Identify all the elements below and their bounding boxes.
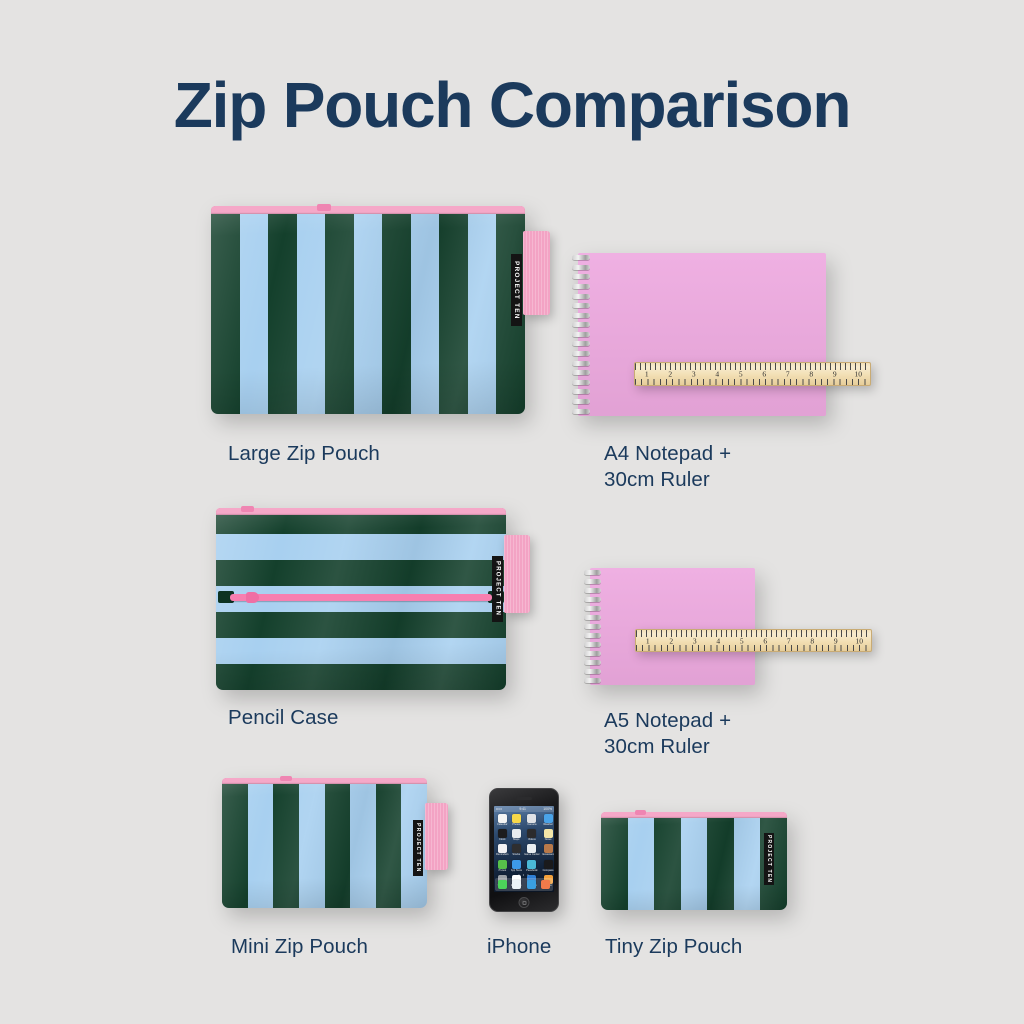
status-signal: ••••• bbox=[496, 807, 502, 811]
ruler-numbers: 12345678910 bbox=[636, 636, 871, 645]
stripe bbox=[601, 812, 628, 910]
ruler-30cm-a4[interactable]: 12345678910 bbox=[634, 362, 871, 386]
a5-notepad[interactable] bbox=[590, 568, 755, 685]
stripe bbox=[376, 778, 402, 908]
status-bar: ••••• 9:41 100% bbox=[494, 806, 554, 812]
spiral-ring bbox=[584, 606, 601, 611]
spiral-ring bbox=[572, 265, 590, 270]
stripe bbox=[325, 206, 354, 414]
stripe bbox=[350, 778, 376, 908]
spiral-ring bbox=[584, 588, 601, 593]
label-tiny-zip-pouch: Tiny Zip Pouch bbox=[605, 934, 742, 960]
spiral-ring bbox=[572, 255, 590, 260]
app-icon[interactable] bbox=[544, 814, 553, 823]
app-label: Game Center bbox=[524, 853, 540, 856]
page-title: Zip Pouch Comparison bbox=[0, 68, 1024, 142]
zipper-middle-pull[interactable] bbox=[246, 592, 259, 603]
stripe bbox=[439, 206, 468, 414]
app-icon[interactable] bbox=[544, 829, 553, 838]
app-dock[interactable] bbox=[495, 878, 553, 891]
stripe bbox=[268, 206, 297, 414]
stripe bbox=[216, 534, 506, 560]
stripe bbox=[628, 812, 655, 910]
stripe bbox=[273, 778, 299, 908]
app-icon[interactable] bbox=[498, 829, 507, 838]
stripe bbox=[707, 812, 734, 910]
ruler-number: 10 bbox=[847, 369, 871, 378]
ruler-number: 3 bbox=[682, 369, 706, 378]
ruler-number: 7 bbox=[777, 636, 801, 645]
spiral-ring bbox=[572, 409, 590, 414]
app-icon[interactable] bbox=[527, 844, 536, 853]
app-tile[interactable]: Videos bbox=[524, 829, 540, 842]
ruler-number: 7 bbox=[776, 369, 800, 378]
spiral-ring bbox=[584, 579, 601, 584]
brand-label-mini: PROJECT TEN bbox=[413, 820, 423, 876]
spiral-binding bbox=[572, 253, 590, 416]
zipper-top[interactable] bbox=[211, 206, 525, 214]
spiral-ring bbox=[572, 294, 590, 299]
notepad-page bbox=[578, 253, 826, 416]
ruler-number: 6 bbox=[753, 369, 777, 378]
brand-label-large: PROJECT TEN bbox=[511, 254, 522, 326]
earpiece-speaker bbox=[516, 797, 532, 800]
stripe bbox=[216, 560, 506, 586]
ruler-ticks-bottom bbox=[635, 379, 870, 385]
ruler-number: 2 bbox=[660, 636, 684, 645]
app-tile[interactable]: Clock bbox=[496, 829, 509, 842]
pencil-case[interactable] bbox=[216, 508, 506, 690]
ruler-number: 9 bbox=[824, 636, 848, 645]
stripe bbox=[216, 612, 506, 638]
stripe bbox=[211, 206, 240, 414]
ruler-number: 4 bbox=[707, 636, 731, 645]
spiral-ring bbox=[584, 669, 601, 674]
label-mini-zip-pouch: Mini Zip Pouch bbox=[231, 934, 368, 960]
dock-app-icon[interactable] bbox=[498, 880, 507, 889]
app-icon[interactable] bbox=[527, 860, 536, 869]
page-dots: • • • bbox=[494, 872, 554, 877]
ruler-number: 1 bbox=[635, 369, 659, 378]
spiral-ring bbox=[584, 615, 601, 620]
app-icon[interactable] bbox=[498, 860, 507, 869]
stripe bbox=[248, 778, 274, 908]
spiral-ring bbox=[572, 361, 590, 366]
spiral-ring bbox=[572, 313, 590, 318]
notepad-page bbox=[590, 568, 755, 685]
stripe bbox=[325, 778, 351, 908]
label-iphone: iPhone bbox=[487, 934, 551, 960]
zipper-top[interactable] bbox=[601, 812, 787, 818]
stripe bbox=[216, 664, 506, 690]
spiral-ring bbox=[572, 284, 590, 289]
pull-tab-pencil-case[interactable] bbox=[504, 535, 530, 613]
ruler-number: 6 bbox=[754, 636, 778, 645]
large-zip-pouch[interactable] bbox=[211, 206, 525, 414]
app-label: Photos bbox=[511, 823, 523, 826]
app-tile[interactable]: Compass bbox=[542, 860, 554, 873]
stripe bbox=[240, 206, 269, 414]
ruler-number: 2 bbox=[659, 369, 683, 378]
app-icon[interactable] bbox=[512, 829, 521, 838]
dock-app-icon[interactable] bbox=[527, 880, 536, 889]
iphone[interactable]: ••••• 9:41 100% CalendarPhotosCameraWeat… bbox=[489, 788, 559, 912]
app-icon[interactable] bbox=[544, 844, 553, 853]
pouch-body bbox=[601, 812, 787, 910]
pouch-body bbox=[222, 778, 427, 908]
status-battery: 100% bbox=[543, 807, 552, 811]
stripe-pattern-vertical bbox=[211, 206, 525, 414]
app-label: Clock bbox=[496, 838, 509, 841]
spiral-ring bbox=[584, 642, 601, 647]
ruler-number: 5 bbox=[730, 636, 754, 645]
app-label: Maps bbox=[511, 838, 523, 841]
spiral-ring bbox=[572, 303, 590, 308]
stripe bbox=[222, 778, 248, 908]
app-label: Weather bbox=[542, 823, 554, 826]
app-tile[interactable]: Newsstand bbox=[542, 844, 554, 857]
home-button[interactable] bbox=[519, 897, 530, 908]
stripe bbox=[216, 638, 506, 664]
label-large-zip-pouch: Large Zip Pouch bbox=[228, 441, 380, 467]
zipper-top[interactable] bbox=[216, 508, 506, 515]
app-icon[interactable] bbox=[527, 829, 536, 838]
ruler-number: 8 bbox=[800, 369, 824, 378]
app-tile[interactable]: Notes bbox=[542, 829, 554, 842]
stripe bbox=[681, 812, 708, 910]
mini-zip-pouch[interactable] bbox=[222, 778, 427, 908]
ruler-number: 3 bbox=[683, 636, 707, 645]
app-label: Camera bbox=[524, 823, 540, 826]
spiral-ring bbox=[584, 624, 601, 629]
tiny-zip-pouch[interactable] bbox=[601, 812, 787, 910]
app-label: Calendar bbox=[496, 823, 509, 826]
pouch-body bbox=[211, 206, 525, 414]
spiral-ring bbox=[572, 380, 590, 385]
zipper-slider[interactable] bbox=[635, 810, 646, 815]
stripe bbox=[299, 778, 325, 908]
app-label: Videos bbox=[524, 838, 540, 841]
status-time: 9:41 bbox=[519, 807, 526, 811]
ruler-number: 1 bbox=[636, 636, 660, 645]
iphone-screen[interactable]: ••••• 9:41 100% CalendarPhotosCameraWeat… bbox=[494, 806, 554, 892]
spiral-ring bbox=[572, 274, 590, 279]
pull-tab-large[interactable] bbox=[523, 231, 550, 315]
stripe bbox=[468, 206, 497, 414]
spiral-ring bbox=[572, 389, 590, 394]
label-a4-notepad-ruler: A4 Notepad + 30cm Ruler bbox=[604, 441, 731, 493]
spiral-ring bbox=[584, 633, 601, 638]
app-tile[interactable]: Reminders bbox=[496, 844, 509, 857]
app-label: Notes bbox=[542, 838, 554, 841]
brand-label-tiny: PROJECT TEN bbox=[764, 833, 774, 885]
app-tile[interactable]: App Store bbox=[511, 860, 523, 873]
app-tile[interactable]: Weather bbox=[542, 814, 554, 827]
ruler-numbers: 12345678910 bbox=[635, 369, 870, 378]
zipper-slider-top[interactable] bbox=[241, 506, 254, 512]
app-label: Newsstand bbox=[542, 853, 554, 856]
stripe-pattern-vertical bbox=[222, 778, 427, 908]
app-icon[interactable] bbox=[512, 814, 521, 823]
stripe bbox=[297, 206, 326, 414]
app-tile[interactable]: Calendar bbox=[496, 814, 509, 827]
app-tile[interactable]: Passbook bbox=[524, 860, 540, 873]
stripe bbox=[654, 812, 681, 910]
spiral-ring bbox=[584, 660, 601, 665]
spiral-ring bbox=[584, 651, 601, 656]
stripe bbox=[734, 812, 761, 910]
home-button-square-icon bbox=[522, 901, 526, 905]
spiral-binding bbox=[584, 568, 601, 685]
app-tile[interactable]: Photos bbox=[511, 814, 523, 827]
spiral-ring bbox=[584, 678, 601, 683]
ruler-number: 4 bbox=[706, 369, 730, 378]
zipper-middle[interactable] bbox=[230, 594, 492, 601]
a4-notepad[interactable] bbox=[578, 253, 826, 416]
spiral-ring bbox=[572, 351, 590, 356]
ruler-ticks-bottom bbox=[636, 645, 871, 651]
brand-label-pencil-case: PROJECT TEN bbox=[492, 556, 503, 622]
label-a5-notepad-ruler: A5 Notepad + 30cm Ruler bbox=[604, 708, 731, 760]
app-icon[interactable] bbox=[527, 814, 536, 823]
zipper-slider[interactable] bbox=[317, 204, 331, 211]
spiral-ring bbox=[572, 322, 590, 327]
app-tile[interactable]: Camera bbox=[524, 814, 540, 827]
spiral-ring bbox=[572, 332, 590, 337]
stripe bbox=[382, 206, 411, 414]
dock-app-icon[interactable] bbox=[541, 880, 550, 889]
stripe bbox=[411, 206, 440, 414]
app-icon[interactable] bbox=[512, 860, 521, 869]
app-tile[interactable]: Game Center bbox=[524, 844, 540, 857]
ruler-number: 5 bbox=[729, 369, 753, 378]
app-tile[interactable]: iTunes bbox=[496, 860, 509, 873]
app-tile[interactable]: Stocks bbox=[511, 844, 523, 857]
label-pencil-case: Pencil Case bbox=[228, 705, 339, 731]
spiral-ring bbox=[584, 597, 601, 602]
ruler-number: 10 bbox=[848, 636, 872, 645]
app-icon[interactable] bbox=[512, 844, 521, 853]
spiral-ring bbox=[572, 370, 590, 375]
zipper-slider[interactable] bbox=[280, 776, 292, 781]
app-icon[interactable] bbox=[544, 860, 553, 869]
spiral-ring bbox=[584, 570, 601, 575]
app-tile[interactable]: Maps bbox=[511, 829, 523, 842]
spiral-ring bbox=[572, 399, 590, 404]
app-icon[interactable] bbox=[498, 814, 507, 823]
dock-app-icon[interactable] bbox=[512, 880, 521, 889]
spiral-ring bbox=[572, 341, 590, 346]
zipper-top[interactable] bbox=[222, 778, 427, 784]
ruler-30cm-a5[interactable]: 12345678910 bbox=[635, 629, 872, 652]
stripe-pattern-vertical bbox=[601, 812, 787, 910]
ruler-number: 8 bbox=[801, 636, 825, 645]
app-label: Reminders bbox=[496, 853, 509, 856]
infographic-canvas: Zip Pouch Comparison PROJECT TEN Large Z… bbox=[0, 0, 1024, 1024]
stripe bbox=[354, 206, 383, 414]
app-icon[interactable] bbox=[498, 844, 507, 853]
app-label: Stocks bbox=[511, 853, 523, 856]
pull-tab-mini[interactable] bbox=[425, 803, 448, 870]
ruler-number: 9 bbox=[823, 369, 847, 378]
